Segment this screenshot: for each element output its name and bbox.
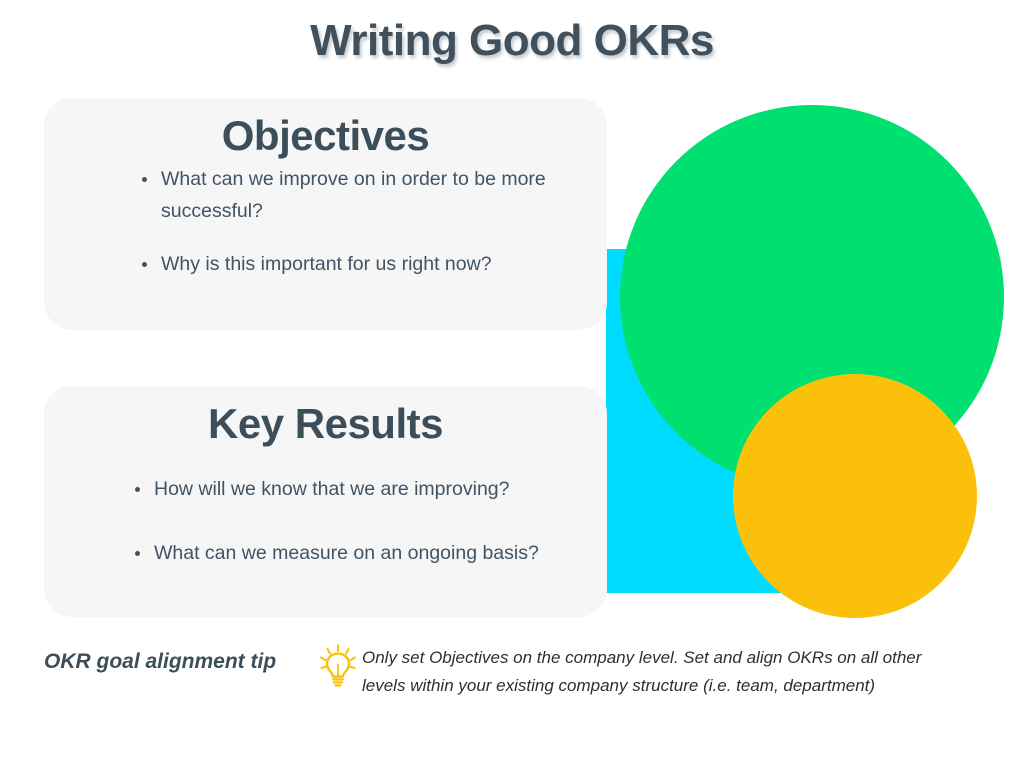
lightbulb-icon [314, 640, 362, 688]
key-results-bullet-list: How will we know that we are improving? … [74, 452, 577, 569]
page-title: Writing Good OKRs [0, 16, 1024, 66]
decorative-yellow-circle [733, 374, 977, 618]
decorative-green-circle [620, 105, 1004, 489]
key-results-card-title: Key Results [74, 400, 577, 448]
list-item: What can we measure on an ongoing basis? [124, 538, 577, 570]
okr-tip-text: Only set Objectives on the company level… [362, 640, 962, 699]
list-item: Why is this important for us right now? [131, 249, 577, 281]
okr-tip-row: OKR goal alignment tip [44, 640, 984, 699]
key-results-card: Key Results How will we know that we are… [44, 386, 607, 617]
okr-tip-label: OKR goal alignment tip [44, 640, 314, 674]
objectives-card: Objectives What can we improve on in ord… [44, 98, 607, 330]
decorative-cyan-rectangle [606, 249, 916, 593]
list-item: What can we improve on in order to be mo… [131, 164, 577, 227]
objectives-card-title: Objectives [74, 112, 577, 160]
list-item: How will we know that we are improving? [124, 474, 577, 506]
objectives-bullet-list: What can we improve on in order to be mo… [74, 164, 577, 281]
infographic-canvas: Writing Good OKRs Objectives What can we… [0, 0, 1024, 768]
